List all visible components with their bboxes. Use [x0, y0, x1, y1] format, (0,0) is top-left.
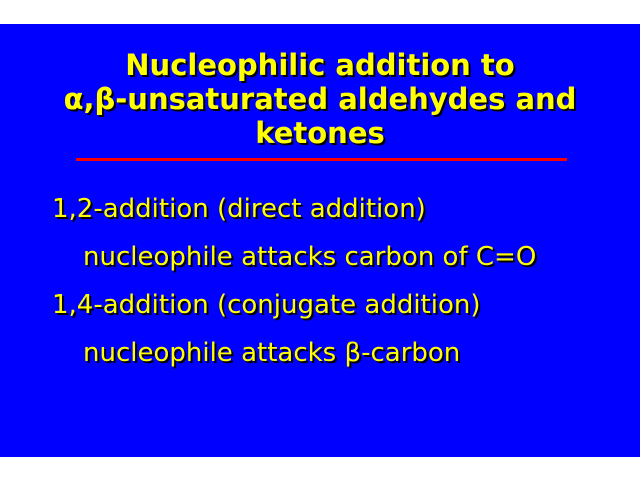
slide-body-list: 1,2-addition (direct addition) nucleophi… — [0, 185, 640, 377]
slide-canvas: Nucleophilic addition to α,β-unsaturated… — [0, 0, 640, 480]
slide-content-area: Nucleophilic addition to α,β-unsaturated… — [0, 24, 640, 457]
body-line-nucleophile-beta-carbon: nucleophile attacks β-carbon — [0, 329, 640, 377]
title-line-3: ketones — [0, 116, 640, 150]
body-line-1-2-addition: 1,2-addition (direct addition) — [0, 185, 640, 233]
title-line-2-text: -unsaturated aldehydes and — [115, 82, 576, 116]
title-line-1: Nucleophilic addition to — [0, 48, 640, 82]
body-line-nucleophile-carbonyl: nucleophile attacks carbon of C=O — [0, 233, 640, 281]
title-line-2: α,β-unsaturated aldehydes and — [0, 82, 640, 116]
slide-title: Nucleophilic addition to α,β-unsaturated… — [0, 48, 640, 150]
body-line-1-4-addition: 1,4-addition (conjugate addition) — [0, 281, 640, 329]
title-divider-rule — [76, 158, 567, 161]
alpha-beta-symbol: α,β — [64, 82, 116, 116]
